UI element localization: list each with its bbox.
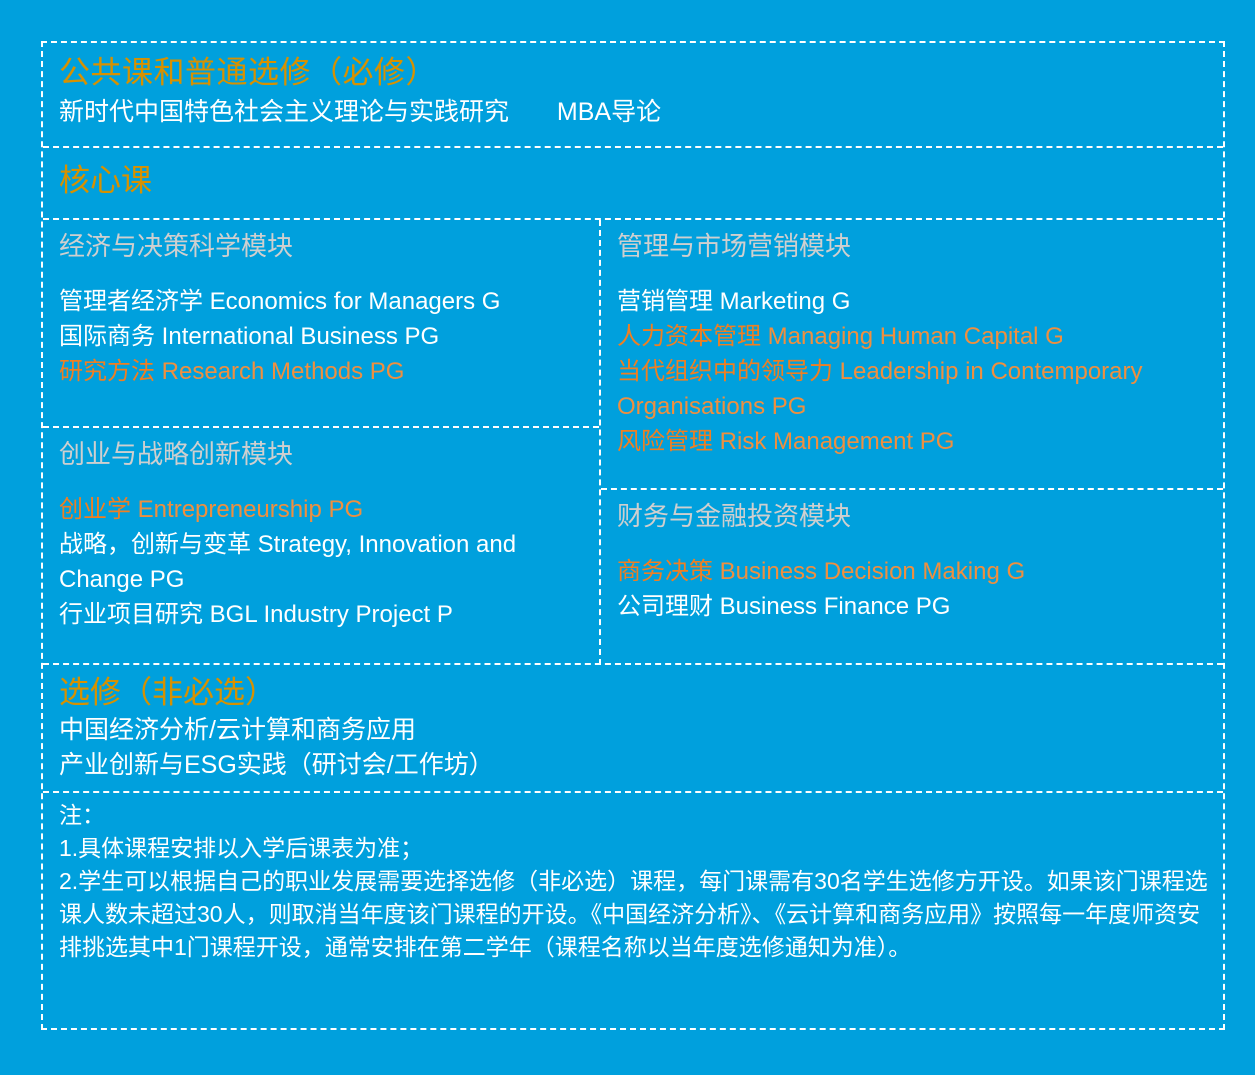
curriculum-frame: 公共课和普通选修（必修） 新时代中国特色社会主义理论与实践研究 MBA导论 核心…	[41, 41, 1225, 1030]
course-cn: 营销管理	[617, 288, 713, 315]
public-course-1: 新时代中国特色社会主义理论与实践研究	[59, 98, 509, 126]
course-item: 商务决策 Business Decision Making G	[617, 554, 1223, 589]
module-finance-investment-title: 财务与金融投资模块	[617, 498, 1223, 534]
course-item: 创业学 Entrepreneurship PG	[59, 492, 599, 527]
module-management-marketing: 管理与市场营销模块 营销管理 Marketing G 人力资本管理 Managi…	[601, 220, 1223, 490]
course-cn: 当代组织中的领导力	[617, 358, 833, 385]
section-core-title: 核心课	[59, 160, 1223, 202]
course-en: Business Decision Making G	[720, 558, 1025, 585]
course-item: 管理者经济学 Economics for Managers G	[59, 284, 599, 319]
elective-line: 中国经济分析/云计算和商务应用	[59, 713, 1223, 748]
course-cn: 创业学	[59, 496, 131, 523]
core-column-right: 管理与市场营销模块 营销管理 Marketing G 人力资本管理 Managi…	[601, 220, 1223, 665]
course-cn: 风险管理	[617, 428, 713, 455]
course-item: 战略，创新与变革 Strategy, Innovation and Change…	[59, 527, 599, 597]
section-public-title: 公共课和普通选修（必修）	[59, 53, 1223, 93]
course-cn: 商务决策	[617, 558, 713, 585]
course-en: Risk Management PG	[720, 428, 955, 455]
course-en: Research Methods PG	[162, 358, 405, 385]
module-economics: 经济与决策科学模块 管理者经济学 Economics for Managers …	[43, 220, 599, 428]
course-item: 当代组织中的领导力 Leadership in Contemporary Org…	[617, 354, 1223, 424]
course-en: Marketing G	[720, 288, 851, 315]
course-item: 公司理财 Business Finance PG	[617, 589, 1223, 624]
course-en: International Business PG	[162, 323, 440, 350]
core-column-left: 经济与决策科学模块 管理者经济学 Economics for Managers …	[43, 220, 601, 665]
section-public-courses: 新时代中国特色社会主义理论与实践研究 MBA导论	[59, 95, 1223, 129]
course-item: 行业项目研究 BGL Industry Project P	[59, 597, 599, 632]
notes-label: 注：	[59, 799, 1211, 832]
course-cn: 研究方法	[59, 358, 155, 385]
curriculum-page: 公共课和普通选修（必修） 新时代中国特色社会主义理论与实践研究 MBA导论 核心…	[0, 0, 1255, 1075]
course-cn: 公司理财	[617, 593, 713, 620]
section-electives-title: 选修（非必选）	[59, 673, 1223, 713]
module-entrepreneurship: 创业与战略创新模块 创业学 Entrepreneurship PG 战略，创新与…	[43, 428, 599, 665]
section-core-heading: 核心课	[43, 148, 1223, 220]
section-public-required: 公共课和普通选修（必修） 新时代中国特色社会主义理论与实践研究 MBA导论	[43, 43, 1223, 148]
course-item: 风险管理 Risk Management PG	[617, 424, 1223, 459]
module-management-marketing-title: 管理与市场营销模块	[617, 228, 1223, 264]
note-item-2: 2.学生可以根据自己的职业发展需要选择选修（非必选）课程，每门课需有30名学生选…	[59, 865, 1211, 964]
course-en: Economics for Managers G	[210, 288, 501, 315]
course-item: 国际商务 International Business PG	[59, 319, 599, 354]
course-cn: 人力资本管理	[617, 323, 761, 350]
module-economics-title: 经济与决策科学模块	[59, 228, 599, 264]
course-item: 人力资本管理 Managing Human Capital G	[617, 319, 1223, 354]
course-cn: 行业项目研究	[59, 601, 203, 628]
section-notes: 注： 1.具体课程安排以入学后课表为准； 2.学生可以根据自己的职业发展需要选择…	[43, 793, 1223, 1028]
course-en: Business Finance PG	[720, 593, 951, 620]
course-cn: 战略，创新与变革	[59, 531, 251, 558]
course-en: Managing Human Capital G	[768, 323, 1064, 350]
public-course-2: MBA导论	[557, 98, 661, 126]
elective-line: 产业创新与ESG实践（研讨会/工作坊）	[59, 748, 1223, 783]
course-en: Entrepreneurship PG	[138, 496, 363, 523]
note-item-1: 1.具体课程安排以入学后课表为准；	[59, 832, 1211, 865]
course-item: 营销管理 Marketing G	[617, 284, 1223, 319]
course-cn: 国际商务	[59, 323, 155, 350]
module-finance-investment: 财务与金融投资模块 商务决策 Business Decision Making …	[601, 490, 1223, 665]
course-cn: 管理者经济学	[59, 288, 203, 315]
course-item: 研究方法 Research Methods PG	[59, 354, 599, 389]
section-electives: 选修（非必选） 中国经济分析/云计算和商务应用 产业创新与ESG实践（研讨会/工…	[43, 665, 1223, 793]
module-entrepreneurship-title: 创业与战略创新模块	[59, 436, 599, 472]
course-en: BGL Industry Project P	[210, 601, 453, 628]
section-core-modules: 经济与决策科学模块 管理者经济学 Economics for Managers …	[43, 220, 1223, 665]
